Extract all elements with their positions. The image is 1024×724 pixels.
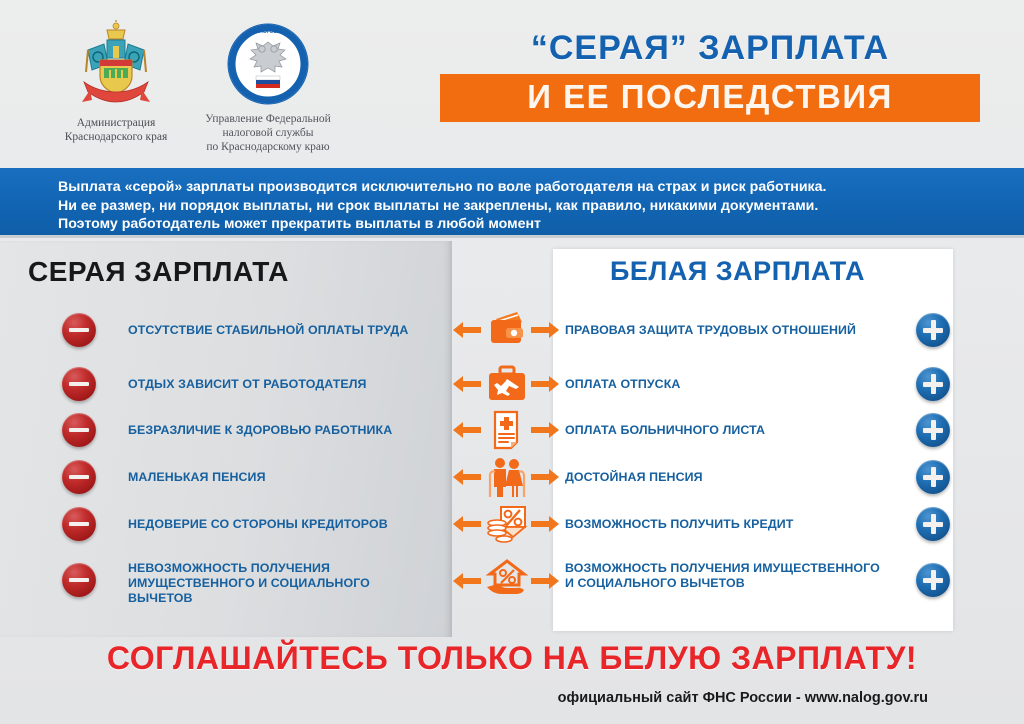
arrow-left-icon	[452, 514, 482, 534]
white-item-label: ДОСТОЙНАЯ ПЕНСИЯ	[565, 470, 905, 485]
house-percent-hand-icon	[484, 557, 530, 603]
white-item-label: ВОЗМОЖНОСТЬ ПОЛУЧИТЬ КРЕДИТ	[565, 517, 905, 532]
minus-icon	[62, 367, 96, 401]
suitcase-plane-icon	[484, 361, 530, 407]
intro-banner: Выплата «серой» зарплаты производится ис…	[0, 168, 1024, 238]
minus-icon	[62, 413, 96, 447]
footer-slogan: СОГЛАШАЙТЕСЬ ТОЛЬКО НА БЕЛУЮ ЗАРПЛАТУ!	[0, 640, 1024, 677]
comparison-row: ОТСУТСТВИЕ СТАБИЛЬНОЙ ОПЛАТЫ ТРУДА ПРАВО…	[0, 306, 1024, 354]
intro-banner-text: Выплата «серой» зарплаты производится ис…	[58, 178, 1000, 234]
arrow-left-icon	[452, 420, 482, 440]
plus-icon	[916, 507, 950, 541]
arrow-left-icon	[452, 467, 482, 487]
arrow-right-icon	[530, 467, 560, 487]
banner-line-1: Выплата «серой» зарплаты производится ис…	[58, 178, 1000, 197]
arrow-right-icon	[530, 420, 560, 440]
arrow-right-icon	[530, 374, 560, 394]
white-item-label: ОПЛАТА ОТПУСКА	[565, 377, 905, 392]
minus-icon	[62, 460, 96, 494]
white-item-label: ОПЛАТА БОЛЬНИЧНОГО ЛИСТА	[565, 423, 905, 438]
comparison-row: НЕВОЗМОЖНОСТЬ ПОЛУЧЕНИЯ ИМУЩЕСТВЕННОГО И…	[0, 550, 1024, 610]
elderly-couple-icon	[484, 454, 530, 500]
comparison-row: МАЛЕНЬКАЯ ПЕНСИЯ ДОСТОЙНАЯ ПЕНСИЯ	[0, 453, 1024, 501]
grey-item-label: ОТСУТСТВИЕ СТАБИЛЬНОЙ ОПЛАТЫ ТРУДА	[128, 323, 438, 338]
grey-item-label: БЕЗРАЗЛИЧИЕ К ЗДОРОВЬЮ РАБОТНИКА	[128, 423, 438, 438]
grey-item-label: МАЛЕНЬКАЯ ПЕНСИЯ	[128, 470, 438, 485]
grey-item-label: НЕДОВЕРИЕ СО СТОРОНЫ КРЕДИТОРОВ	[128, 517, 438, 532]
arrow-right-icon	[530, 320, 560, 340]
title-line-1: “СЕРАЯ” ЗАРПЛАТА	[440, 28, 980, 68]
grey-item-label-line-2: ИМУЩЕСТВЕННОГО И СОЦИАЛЬНОГО ВЫЧЕТОВ	[128, 576, 438, 606]
minus-icon	[62, 563, 96, 597]
plus-icon	[916, 367, 950, 401]
logo-caption-fns: Управление Федеральной налоговой службы …	[168, 112, 368, 154]
footer-official-site: официальный сайт ФНС России - www.nalog.…	[558, 690, 928, 706]
title-highlight-bar: И ЕЕ ПОСЛЕДСТВИЯ	[440, 74, 980, 122]
svg-text:НАЛОГОВАЯ: НАЛОГОВАЯ	[252, 29, 284, 35]
plus-icon	[916, 413, 950, 447]
grey-item-label-line-1: НЕВОЗМОЖНОСТЬ ПОЛУЧЕНИЯ	[128, 561, 438, 576]
krasnodar-coat-of-arms-icon	[74, 20, 158, 112]
minus-icon	[62, 313, 96, 347]
comparison-row: ОТДЫХ ЗАВИСИТ ОТ РАБОТОДАТЕЛЯ ОПЛАТА ОТП…	[0, 360, 1024, 408]
white-item-label-line-2: И СОЦИАЛЬНОГО ВЫЧЕТОВ	[565, 576, 905, 591]
infographic-poster: Администрация Краснодарского края	[0, 0, 1024, 724]
white-item-label: ПРАВОВАЯ ЗАЩИТА ТРУДОВЫХ ОТНОШЕНИЙ	[565, 323, 905, 338]
plus-icon	[916, 313, 950, 347]
poster-header: Администрация Краснодарского края	[0, 0, 1024, 168]
arrow-right-icon	[530, 514, 560, 534]
white-column-heading: БЕЛАЯ ЗАРПЛАТА	[610, 256, 865, 287]
logo-federal-tax-service: НАЛОГОВАЯ Управление Федеральной налогов…	[168, 20, 368, 154]
title-line-2: И ЕЕ ПОСЛЕДСТВИЯ	[450, 79, 970, 115]
arrow-right-icon	[530, 571, 560, 591]
fns-emblem-icon: НАЛОГОВАЯ	[226, 22, 310, 106]
poster-title: “СЕРАЯ” ЗАРПЛАТА И ЕЕ ПОСЛЕДСТВИЯ	[440, 28, 980, 122]
coins-percent-icon	[484, 501, 530, 547]
arrow-left-icon	[452, 320, 482, 340]
wallet-icon	[484, 307, 530, 353]
white-item-label: ВОЗМОЖНОСТЬ ПОЛУЧЕНИЯ ИМУЩЕСТВЕННОГО И С…	[565, 561, 905, 591]
comparison-row: НЕДОВЕРИЕ СО СТОРОНЫ КРЕДИТОРОВ ВОЗМОЖНО…	[0, 500, 1024, 548]
plus-icon	[916, 460, 950, 494]
medical-document-icon	[484, 407, 530, 453]
arrow-left-icon	[452, 571, 482, 591]
white-item-label-line-1: ВОЗМОЖНОСТЬ ПОЛУЧЕНИЯ ИМУЩЕСТВЕННОГО	[565, 561, 905, 576]
grey-item-label: ОТДЫХ ЗАВИСИТ ОТ РАБОТОДАТЕЛЯ	[128, 377, 438, 392]
banner-line-3: Поэтому работодатель может прекратить вы…	[58, 215, 1000, 234]
grey-item-label: НЕВОЗМОЖНОСТЬ ПОЛУЧЕНИЯ ИМУЩЕСТВЕННОГО И…	[128, 561, 438, 606]
comparison-row: БЕЗРАЗЛИЧИЕ К ЗДОРОВЬЮ РАБОТНИКА ОПЛАТА …	[0, 406, 1024, 454]
grey-column-heading: СЕРАЯ ЗАРПЛАТА	[28, 256, 289, 288]
minus-icon	[62, 507, 96, 541]
arrow-left-icon	[452, 374, 482, 394]
plus-icon	[916, 563, 950, 597]
banner-line-2: Ни ее размер, ни порядок выплаты, ни сро…	[58, 197, 1000, 216]
